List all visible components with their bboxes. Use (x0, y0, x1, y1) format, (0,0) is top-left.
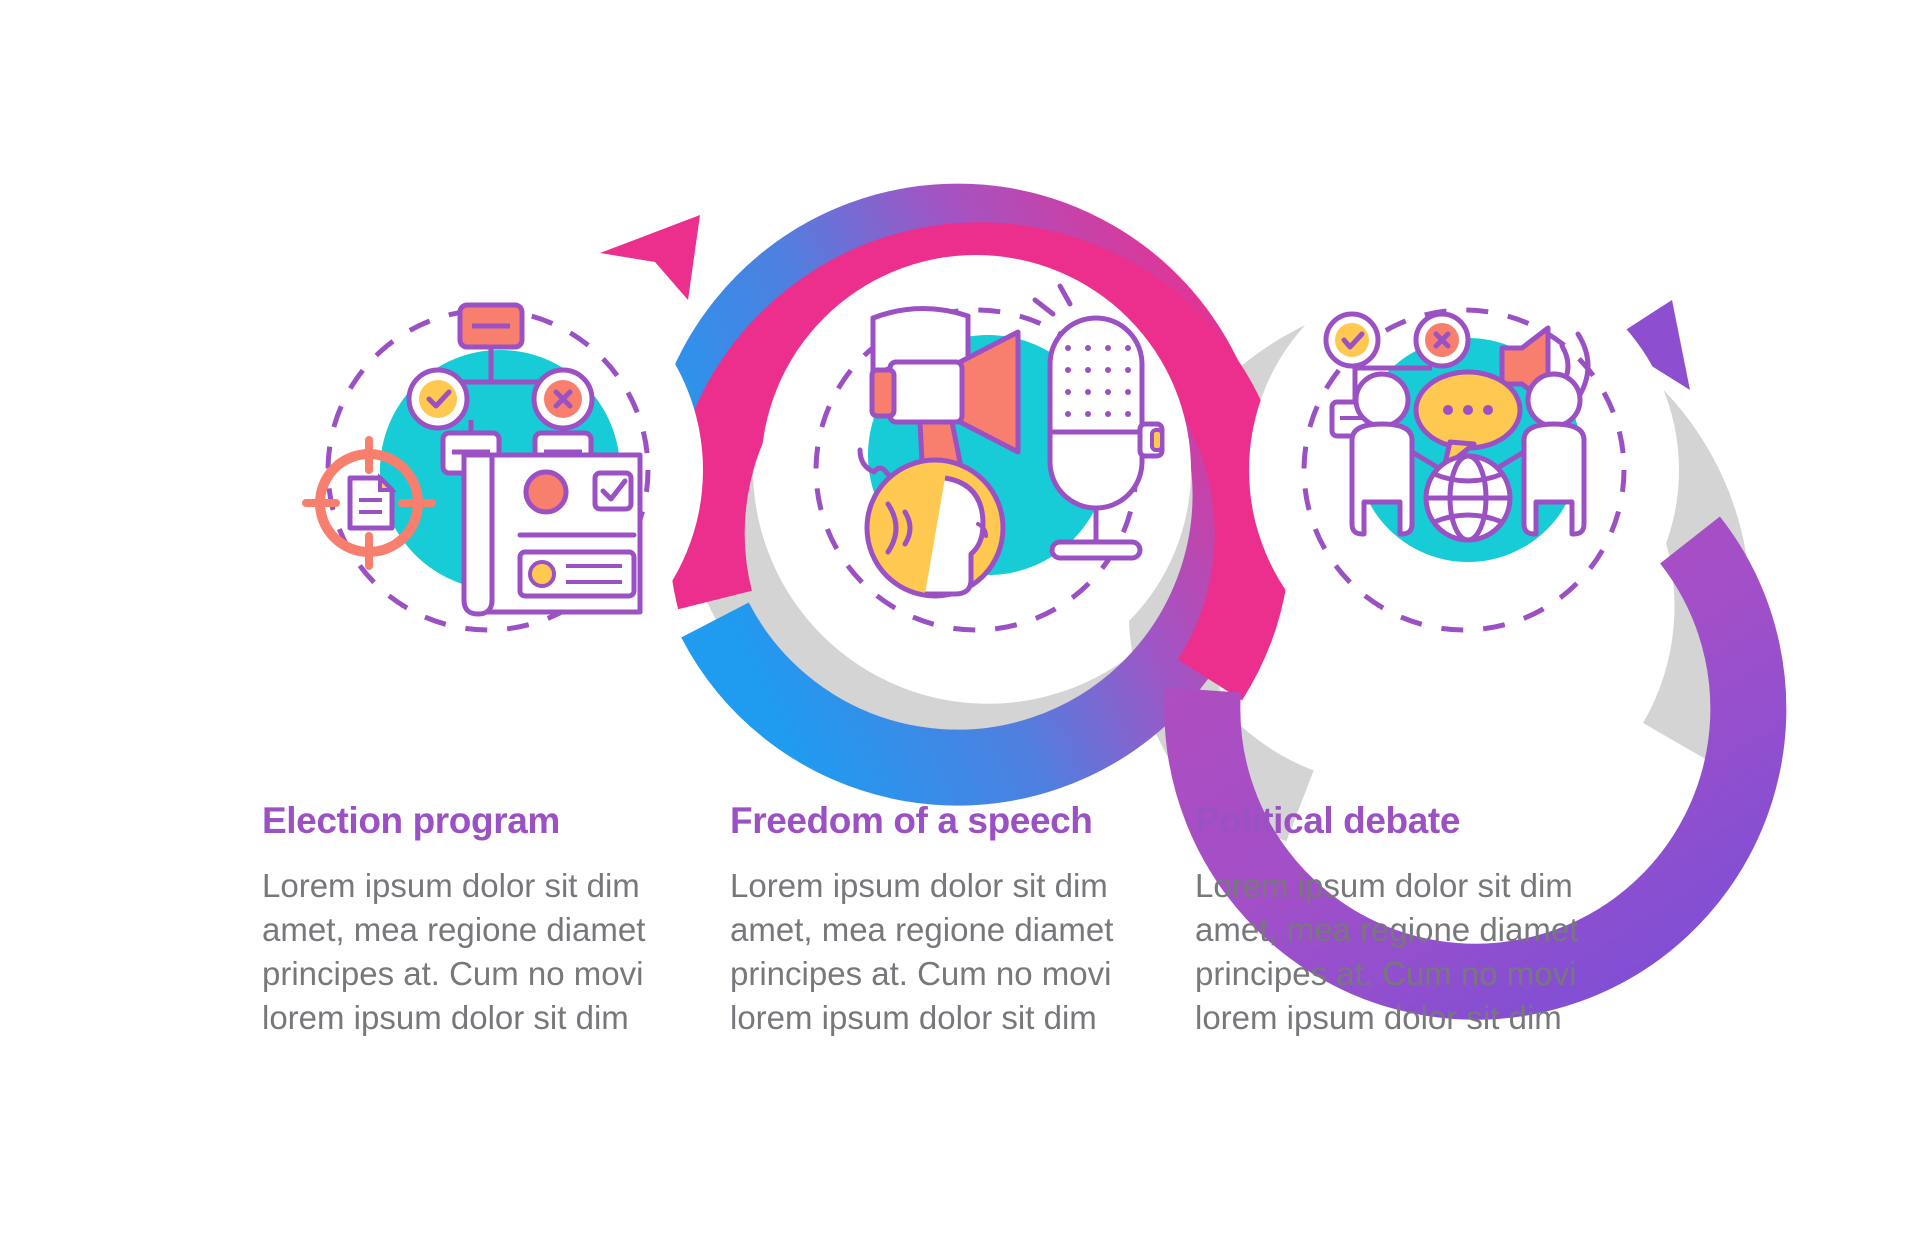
steps-text-row: Election program Lorem ipsum dolor sit d… (0, 800, 1920, 1040)
check-badge-3 (1326, 314, 1378, 366)
infographic-canvas: Election program Lorem ipsum dolor sit d… (0, 0, 1920, 1246)
step-2-title: Freedom of a speech (730, 800, 1160, 842)
step-2-icon-group[interactable] (761, 255, 1191, 685)
step-3-icon-group[interactable] (1249, 255, 1679, 685)
step-3-title: Political debate (1195, 800, 1625, 842)
step-1-body: Lorem ipsum dolor sit dim amet, mea regi… (262, 864, 692, 1040)
cross-badge-3 (1416, 314, 1468, 366)
cross-badge-1 (534, 370, 592, 428)
icon-circles (0, 0, 1920, 1246)
step-1-text-block: Election program Lorem ipsum dolor sit d… (262, 800, 692, 1040)
speaking-head-icon (867, 460, 1003, 596)
step-2-body: Lorem ipsum dolor sit dim amet, mea regi… (730, 864, 1160, 1040)
check-badge-1 (409, 370, 467, 428)
document-checklist (464, 455, 640, 614)
step-3-body: Lorem ipsum dolor sit dim amet, mea regi… (1195, 864, 1625, 1040)
step-2-text-block: Freedom of a speech Lorem ipsum dolor si… (730, 800, 1160, 1040)
step-1-title: Election program (262, 800, 692, 842)
step-1-icon-group[interactable] (273, 255, 703, 685)
step-3-text-block: Political debate Lorem ipsum dolor sit d… (1195, 800, 1625, 1040)
globe-icon (1426, 456, 1510, 540)
